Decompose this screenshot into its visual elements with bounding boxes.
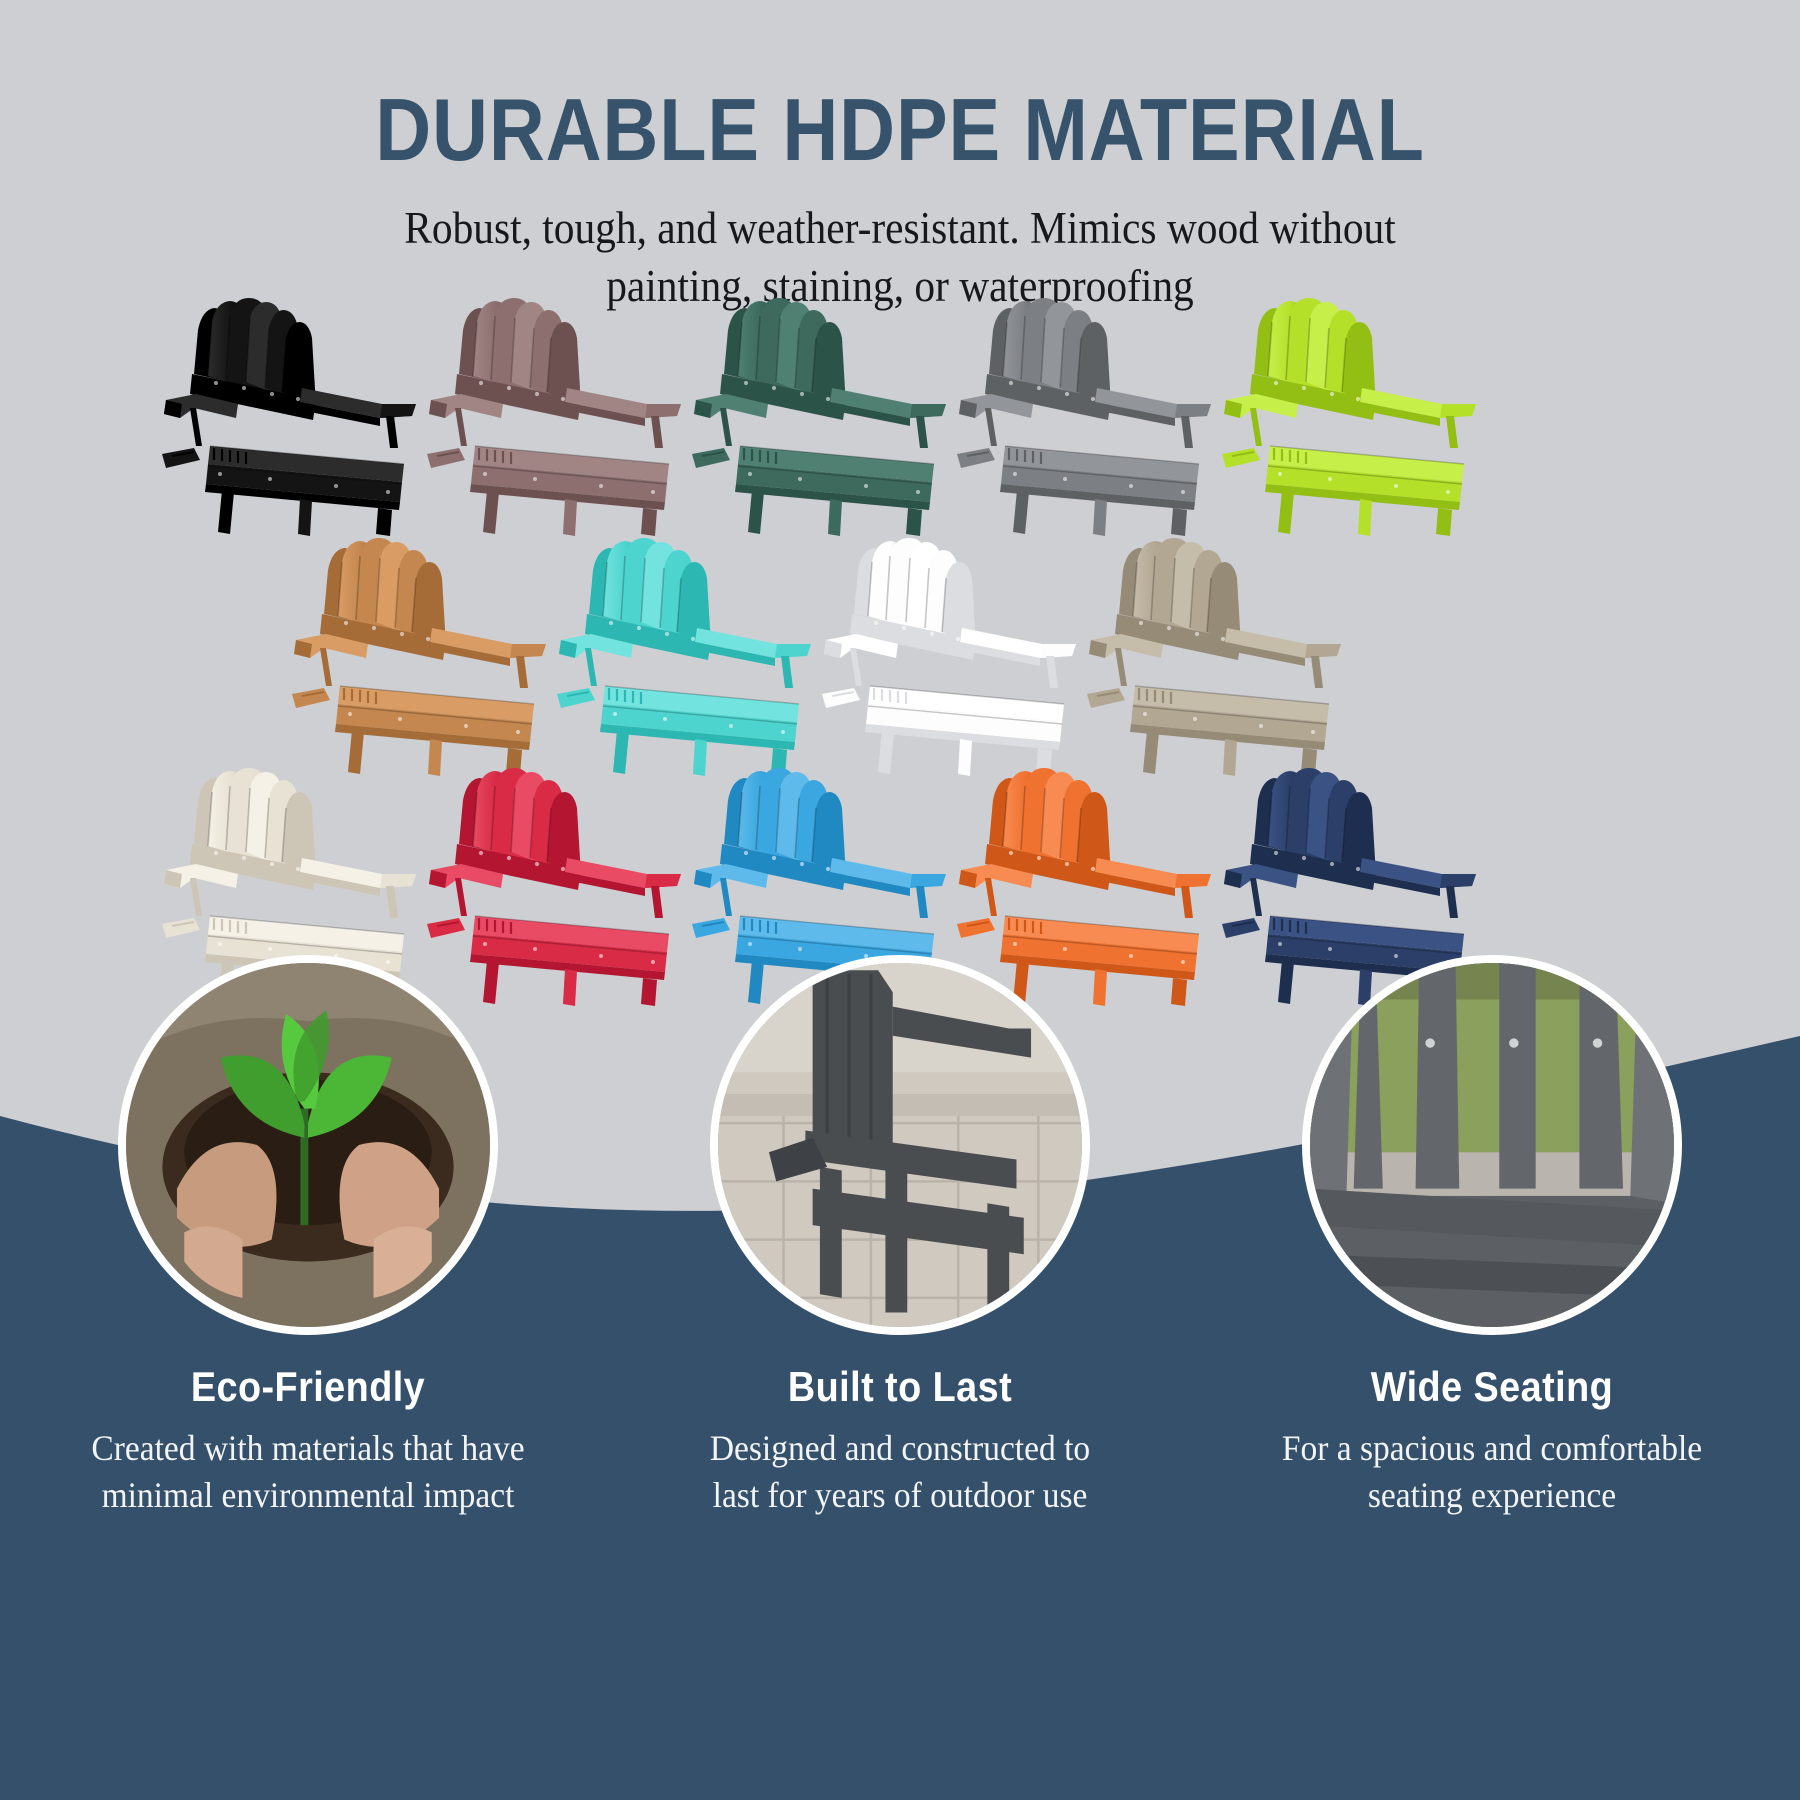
chair-leg-back-left	[218, 490, 234, 534]
chair-arm-post-left	[985, 878, 997, 916]
chair-leg-front-right	[906, 508, 922, 536]
chair-arm-right	[565, 388, 681, 426]
chair-arm-right	[1360, 388, 1476, 426]
chair-arm-post-right	[1446, 416, 1458, 448]
chair-arm-post-right	[916, 416, 928, 448]
chair-leg-front-right	[376, 508, 392, 536]
chair-arm-post-left	[190, 878, 202, 916]
feature-wide-seating: Wide SeatingFor a spacious and comfortab…	[1212, 955, 1772, 1519]
chair-arm-post-right	[1181, 416, 1193, 448]
feature-description-line-2: seating experience	[1250, 1472, 1734, 1519]
chair-arm-post-right	[386, 886, 398, 918]
feature-built-to-last: Built to LastDesigned and constructed to…	[620, 955, 1180, 1519]
chair-swatch-lime-green[interactable]	[1210, 296, 1510, 536]
page-title: DURABLE HDPE MATERIAL	[108, 0, 1692, 174]
chair-leg-front-right	[641, 508, 657, 536]
feature-description: For a spacious and comfortableseating ex…	[1250, 1411, 1734, 1519]
chair-swatch-mauve-brown[interactable]	[415, 296, 715, 536]
chair-leg-mid	[563, 499, 577, 536]
chair-swatch-black[interactable]	[150, 296, 450, 536]
chair-arm-post-right	[651, 416, 663, 448]
chair-swatch-gray[interactable]	[945, 296, 1245, 536]
chair-swatch-white[interactable]	[810, 536, 1110, 776]
chair-skid	[292, 688, 330, 708]
chair-leg-front-right	[1171, 508, 1187, 536]
chair-arm-post-left	[1115, 648, 1127, 686]
chair-arm-right	[430, 628, 546, 666]
chair-leg-back-left	[1013, 490, 1029, 534]
feature-description: Designed and constructed tolast for year…	[658, 1411, 1142, 1519]
chair-arm-post-right	[781, 656, 793, 688]
chair-leg-mid	[828, 499, 842, 536]
chair-arm-right	[300, 388, 416, 426]
chair-leg-mid	[1358, 499, 1372, 536]
chair-skid	[692, 448, 730, 468]
chair-arm-right	[830, 388, 946, 426]
feature-description: Created with materials that haveminimal …	[66, 1411, 550, 1519]
feature-row: Eco-FriendlyCreated with materials that …	[0, 955, 1800, 1800]
gray-adirondack-chair-on-patio-image	[710, 955, 1090, 1335]
chair-skid	[957, 448, 995, 468]
chair-skid	[1222, 448, 1260, 468]
chair-arm-post-left	[1250, 878, 1262, 916]
chair-skid	[1087, 688, 1125, 708]
chair-arm-right	[565, 858, 681, 896]
feature-title: Wide Seating	[1240, 1335, 1744, 1411]
chair-leg-back-left	[748, 490, 764, 534]
chair-arm-right	[1095, 388, 1211, 426]
chair-arm-post-left	[720, 878, 732, 916]
chair-leg-back-left	[1278, 490, 1294, 534]
chair-skid	[692, 918, 730, 938]
chair-skid	[1222, 918, 1260, 938]
chair-skid	[822, 688, 860, 708]
chair-skid	[162, 918, 200, 938]
chair-skid	[427, 448, 465, 468]
chair-arm-post-left	[455, 408, 467, 446]
chair-arm-post-left	[455, 878, 467, 916]
chair-arm-post-right	[516, 656, 528, 688]
chair-arm-post-left	[320, 648, 332, 686]
feature-description-line-2: minimal environmental impact	[66, 1472, 550, 1519]
feature-title: Built to Last	[648, 1335, 1152, 1411]
chair-arm-post-right	[1046, 656, 1058, 688]
chair-arm-post-right	[1181, 886, 1193, 918]
feature-description-line-2: last for years of outdoor use	[658, 1472, 1142, 1519]
chair-leg-front-right	[1436, 508, 1452, 536]
chair-illustration	[545, 536, 845, 776]
header: DURABLE HDPE MATERIAL Robust, tough, and…	[0, 0, 1800, 315]
chair-skid	[557, 688, 595, 708]
closeup-gray-chair-wide-seat-image	[1302, 955, 1682, 1335]
chair-leg-mid	[298, 499, 312, 536]
chair-arm-right	[1095, 858, 1211, 896]
chair-arm-right	[960, 628, 1076, 666]
chair-skid	[162, 448, 200, 468]
chair-arm-right	[830, 858, 946, 896]
chair-swatch-teak-tan[interactable]	[280, 536, 580, 776]
infographic-stage: DURABLE HDPE MATERIAL Robust, tough, and…	[0, 0, 1800, 1800]
chair-illustration	[945, 296, 1245, 536]
chair-arm-post-left	[585, 648, 597, 686]
feature-description-line-1: Created with materials that have	[66, 1425, 550, 1472]
page-subtitle: Robust, tough, and weather-resistant. Mi…	[339, 174, 1461, 315]
chair-arm-post-right	[916, 886, 928, 918]
chair-arm-post-left	[850, 648, 862, 686]
chair-swatch-dark-green[interactable]	[680, 296, 980, 536]
chair-illustration	[810, 536, 1110, 776]
feature-description-line-1: For a spacious and comfortable	[1250, 1425, 1734, 1472]
chair-illustration	[415, 296, 715, 536]
subtitle-line-1: Robust, tough, and weather-resistant. Mi…	[339, 200, 1461, 258]
hands-holding-seedling-in-soil-image	[118, 955, 498, 1335]
chair-skid	[957, 918, 995, 938]
chair-arm-post-left	[190, 408, 202, 446]
chair-arm-right	[1360, 858, 1476, 896]
chair-arm-right	[1225, 628, 1341, 666]
chair-arm-post-right	[651, 886, 663, 918]
chair-illustration	[680, 296, 980, 536]
chair-arm-right	[695, 628, 811, 666]
chair-arm-post-right	[1446, 886, 1458, 918]
chair-color-grid	[0, 296, 1800, 996]
chair-skid	[427, 918, 465, 938]
chair-swatch-khaki-taupe[interactable]	[1075, 536, 1375, 776]
chair-arm-post-right	[386, 416, 398, 448]
chair-arm-right	[300, 858, 416, 896]
feature-description-line-1: Designed and constructed to	[658, 1425, 1142, 1472]
feature-eco-friendly: Eco-FriendlyCreated with materials that …	[28, 955, 588, 1519]
chair-arm-post-left	[985, 408, 997, 446]
chair-arm-post-right	[1311, 656, 1323, 688]
chair-illustration	[1075, 536, 1375, 776]
chair-leg-back-left	[483, 490, 499, 534]
chair-leg-mid	[1093, 499, 1107, 536]
chair-arm-post-left	[1250, 408, 1262, 446]
chair-illustration	[280, 536, 580, 776]
chair-illustration	[150, 296, 450, 536]
chair-swatch-turquoise[interactable]	[545, 536, 845, 776]
chair-illustration	[1210, 296, 1510, 536]
feature-title: Eco-Friendly	[56, 1335, 560, 1411]
chair-arm-post-left	[720, 408, 732, 446]
